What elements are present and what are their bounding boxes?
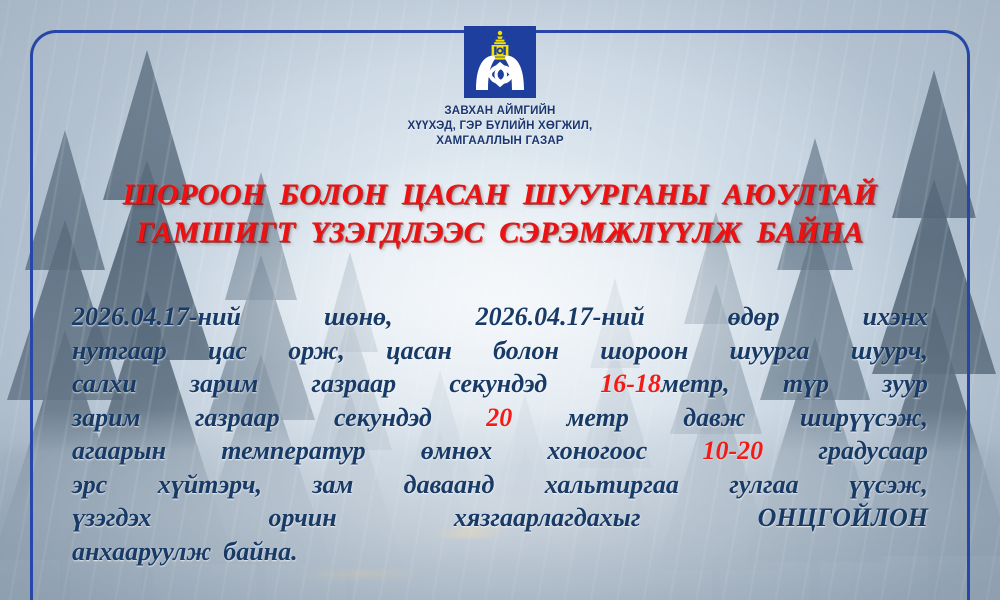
emphasis-word: ОНЦГОЙЛОН bbox=[758, 501, 928, 535]
body-word: зам bbox=[312, 468, 353, 502]
body-word: өдөр bbox=[728, 300, 780, 334]
body-word: нутгаар bbox=[72, 334, 167, 368]
body-line: үзэгдэх орчин хязгаарлагдахыг ОНЦГОЙЛОН bbox=[72, 501, 928, 535]
body-word: орчин bbox=[268, 501, 336, 535]
body-word: үүсэж, bbox=[849, 468, 928, 502]
body-word: хязгаарлагдахыг bbox=[454, 501, 641, 535]
body-line: салхи зарим газраар секундэд 16-18метр, … bbox=[72, 367, 928, 401]
body-line: эрс хүйтэрч, зам даваанд хальтиргаа гулг… bbox=[72, 468, 928, 502]
organization-line-3: ХАМГААЛЛЫН ГАЗАР bbox=[408, 134, 593, 149]
wind-speed-highlight: 20 bbox=[486, 401, 512, 435]
body-word: салхи bbox=[72, 367, 137, 401]
body-word: орж, bbox=[288, 334, 345, 368]
body-word: градусаар bbox=[818, 434, 928, 468]
body-word: эрс bbox=[72, 468, 107, 502]
body-word: хүйтэрч, bbox=[158, 468, 262, 502]
body-word: газраар bbox=[195, 401, 280, 435]
body-word: секундэд bbox=[334, 401, 432, 435]
body-word: секундэд bbox=[449, 367, 547, 401]
body-line: зарим газраар секундэд 20 метр давж ширү… bbox=[72, 401, 928, 435]
body-word: цасан bbox=[386, 334, 452, 368]
body-line: анхааруулж байна. bbox=[72, 535, 928, 569]
body-word: ихэнх bbox=[863, 300, 928, 334]
body-word: ширүүсэж, bbox=[800, 401, 928, 435]
body-word: газраар bbox=[311, 367, 396, 401]
body-line: 2026.04.17-ний шөнө, 2026.04.17-ний өдөр… bbox=[72, 300, 928, 334]
body-word: температур bbox=[221, 434, 365, 468]
body-word: зарим bbox=[72, 401, 140, 435]
body-word: давж bbox=[683, 401, 745, 435]
body-word: цас bbox=[208, 334, 247, 368]
body-word: үзэгдэх bbox=[72, 501, 151, 535]
body-word: 2026.04.17-ний bbox=[72, 300, 241, 334]
warning-body-text: 2026.04.17-ний шөнө, 2026.04.17-ний өдөр… bbox=[72, 300, 928, 568]
body-word: даваанд bbox=[404, 468, 495, 502]
wind-speed-highlight: 16-18 bbox=[600, 369, 661, 398]
body-word: анхааруулж bbox=[72, 535, 211, 569]
body-word: хальтиргаа bbox=[545, 468, 679, 502]
body-word: шуурч, bbox=[851, 334, 928, 368]
body-word: 2026.04.17-ний bbox=[476, 300, 645, 334]
temperature-drop-highlight: 10-20 bbox=[703, 434, 764, 468]
body-word: өмнөх bbox=[421, 434, 492, 468]
body-word: метр bbox=[567, 401, 629, 435]
body-word: зуур bbox=[882, 367, 928, 401]
body-word: болон bbox=[493, 334, 559, 368]
body-word: шуурга bbox=[730, 334, 810, 368]
organization-line-1: ЗАВХАН АЙМГИЙН bbox=[408, 104, 593, 119]
body-word: түр bbox=[783, 367, 829, 401]
body-word: байна. bbox=[223, 535, 297, 569]
body-word: зарим bbox=[190, 367, 258, 401]
body-word: шороон bbox=[600, 334, 688, 368]
organization-name: ЗАВХАН АЙМГИЙН ХҮҮХЭД, ГЭР БҮЛИЙН ХӨГЖИЛ… bbox=[408, 104, 593, 150]
poster-header: ЗАВХАН АЙМГИЙН ХҮҮХЭД, ГЭР БҮЛИЙН ХӨГЖИЛ… bbox=[0, 26, 1000, 150]
body-line: агаарын температур өмнөх хоногоос 10-20 … bbox=[72, 434, 928, 468]
zavkhan-aimag-emblem-icon bbox=[464, 26, 536, 98]
body-line: нутгаар цас орж, цасан болон шороон шуур… bbox=[72, 334, 928, 368]
organization-line-2: ХҮҮХЭД, ГЭР БҮЛИЙН ХӨГЖИЛ, bbox=[408, 119, 593, 134]
body-word: хоногоос bbox=[547, 434, 647, 468]
warning-poster: ЗАВХАН АЙМГИЙН ХҮҮХЭД, ГЭР БҮЛИЙН ХӨГЖИЛ… bbox=[0, 0, 1000, 600]
wind-speed-group: 16-18метр, bbox=[600, 367, 729, 401]
body-word: гулгаа bbox=[729, 468, 798, 502]
body-word: агаарын bbox=[72, 434, 166, 468]
body-word: шөнө, bbox=[324, 300, 393, 334]
title-line-2: ГАМШИГТ ҮЗЭГДЛЭЭС СЭРЭМЖЛҮҮЛЖ БАЙНА bbox=[46, 214, 954, 252]
body-word: метр, bbox=[661, 369, 730, 398]
title-line-1: ШОРООН БОЛОН ЦАСАН ШУУРГАНЫ АЮУЛТАЙ bbox=[46, 176, 954, 214]
poster-title: ШОРООН БОЛОН ЦАСАН ШУУРГАНЫ АЮУЛТАЙ ГАМШ… bbox=[46, 176, 954, 253]
